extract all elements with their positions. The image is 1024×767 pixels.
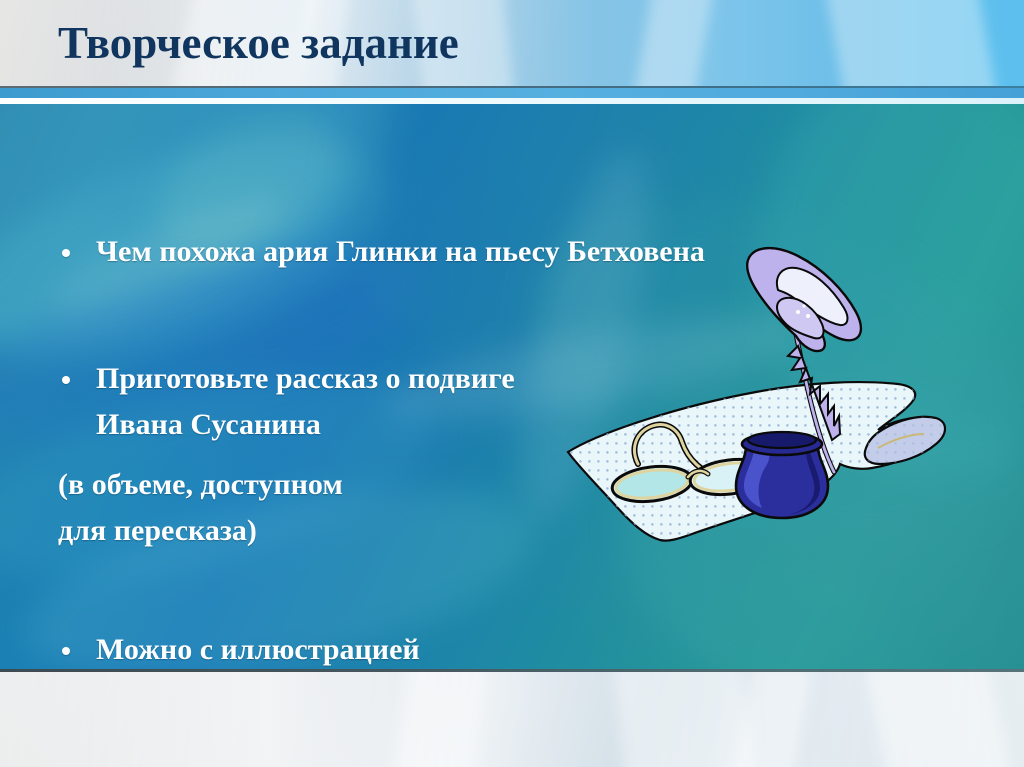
body-line-parenthetical-2: для пересказа) xyxy=(58,513,257,549)
bullet-line-2: Приготовьте рассказ о подвиге xyxy=(96,361,515,397)
footer-streak-1 xyxy=(389,672,490,767)
bullet-marker-1 xyxy=(62,249,70,257)
footer-streak-4 xyxy=(865,672,1016,767)
slide-body-background: Чем похожа ария Глинки на пьесу Бетховен… xyxy=(0,104,1024,671)
bullet-line-1: Чем похожа ария Глинки на пьесу Бетховен… xyxy=(96,234,705,270)
bullet-marker-3 xyxy=(62,647,70,655)
slide-footer-band xyxy=(0,672,1024,767)
slide-title: Творческое задание xyxy=(58,16,459,70)
body-line-parenthetical-1: (в объеме, доступном xyxy=(58,467,343,503)
presentation-slide: Творческое задание xyxy=(0,0,1024,767)
slide-body-content: Чем похожа ария Глинки на пьесу Бетховен… xyxy=(0,104,1024,671)
header-streak-4 xyxy=(626,0,715,87)
header-divider-blue-band xyxy=(0,88,1024,98)
bullet-marker-2 xyxy=(62,376,70,384)
bullet-line-2-continued: Ивана Сусанина xyxy=(96,407,321,443)
bullet-line-3: Можно с иллюстрацией xyxy=(96,632,420,668)
header-streak-5 xyxy=(825,0,1006,87)
